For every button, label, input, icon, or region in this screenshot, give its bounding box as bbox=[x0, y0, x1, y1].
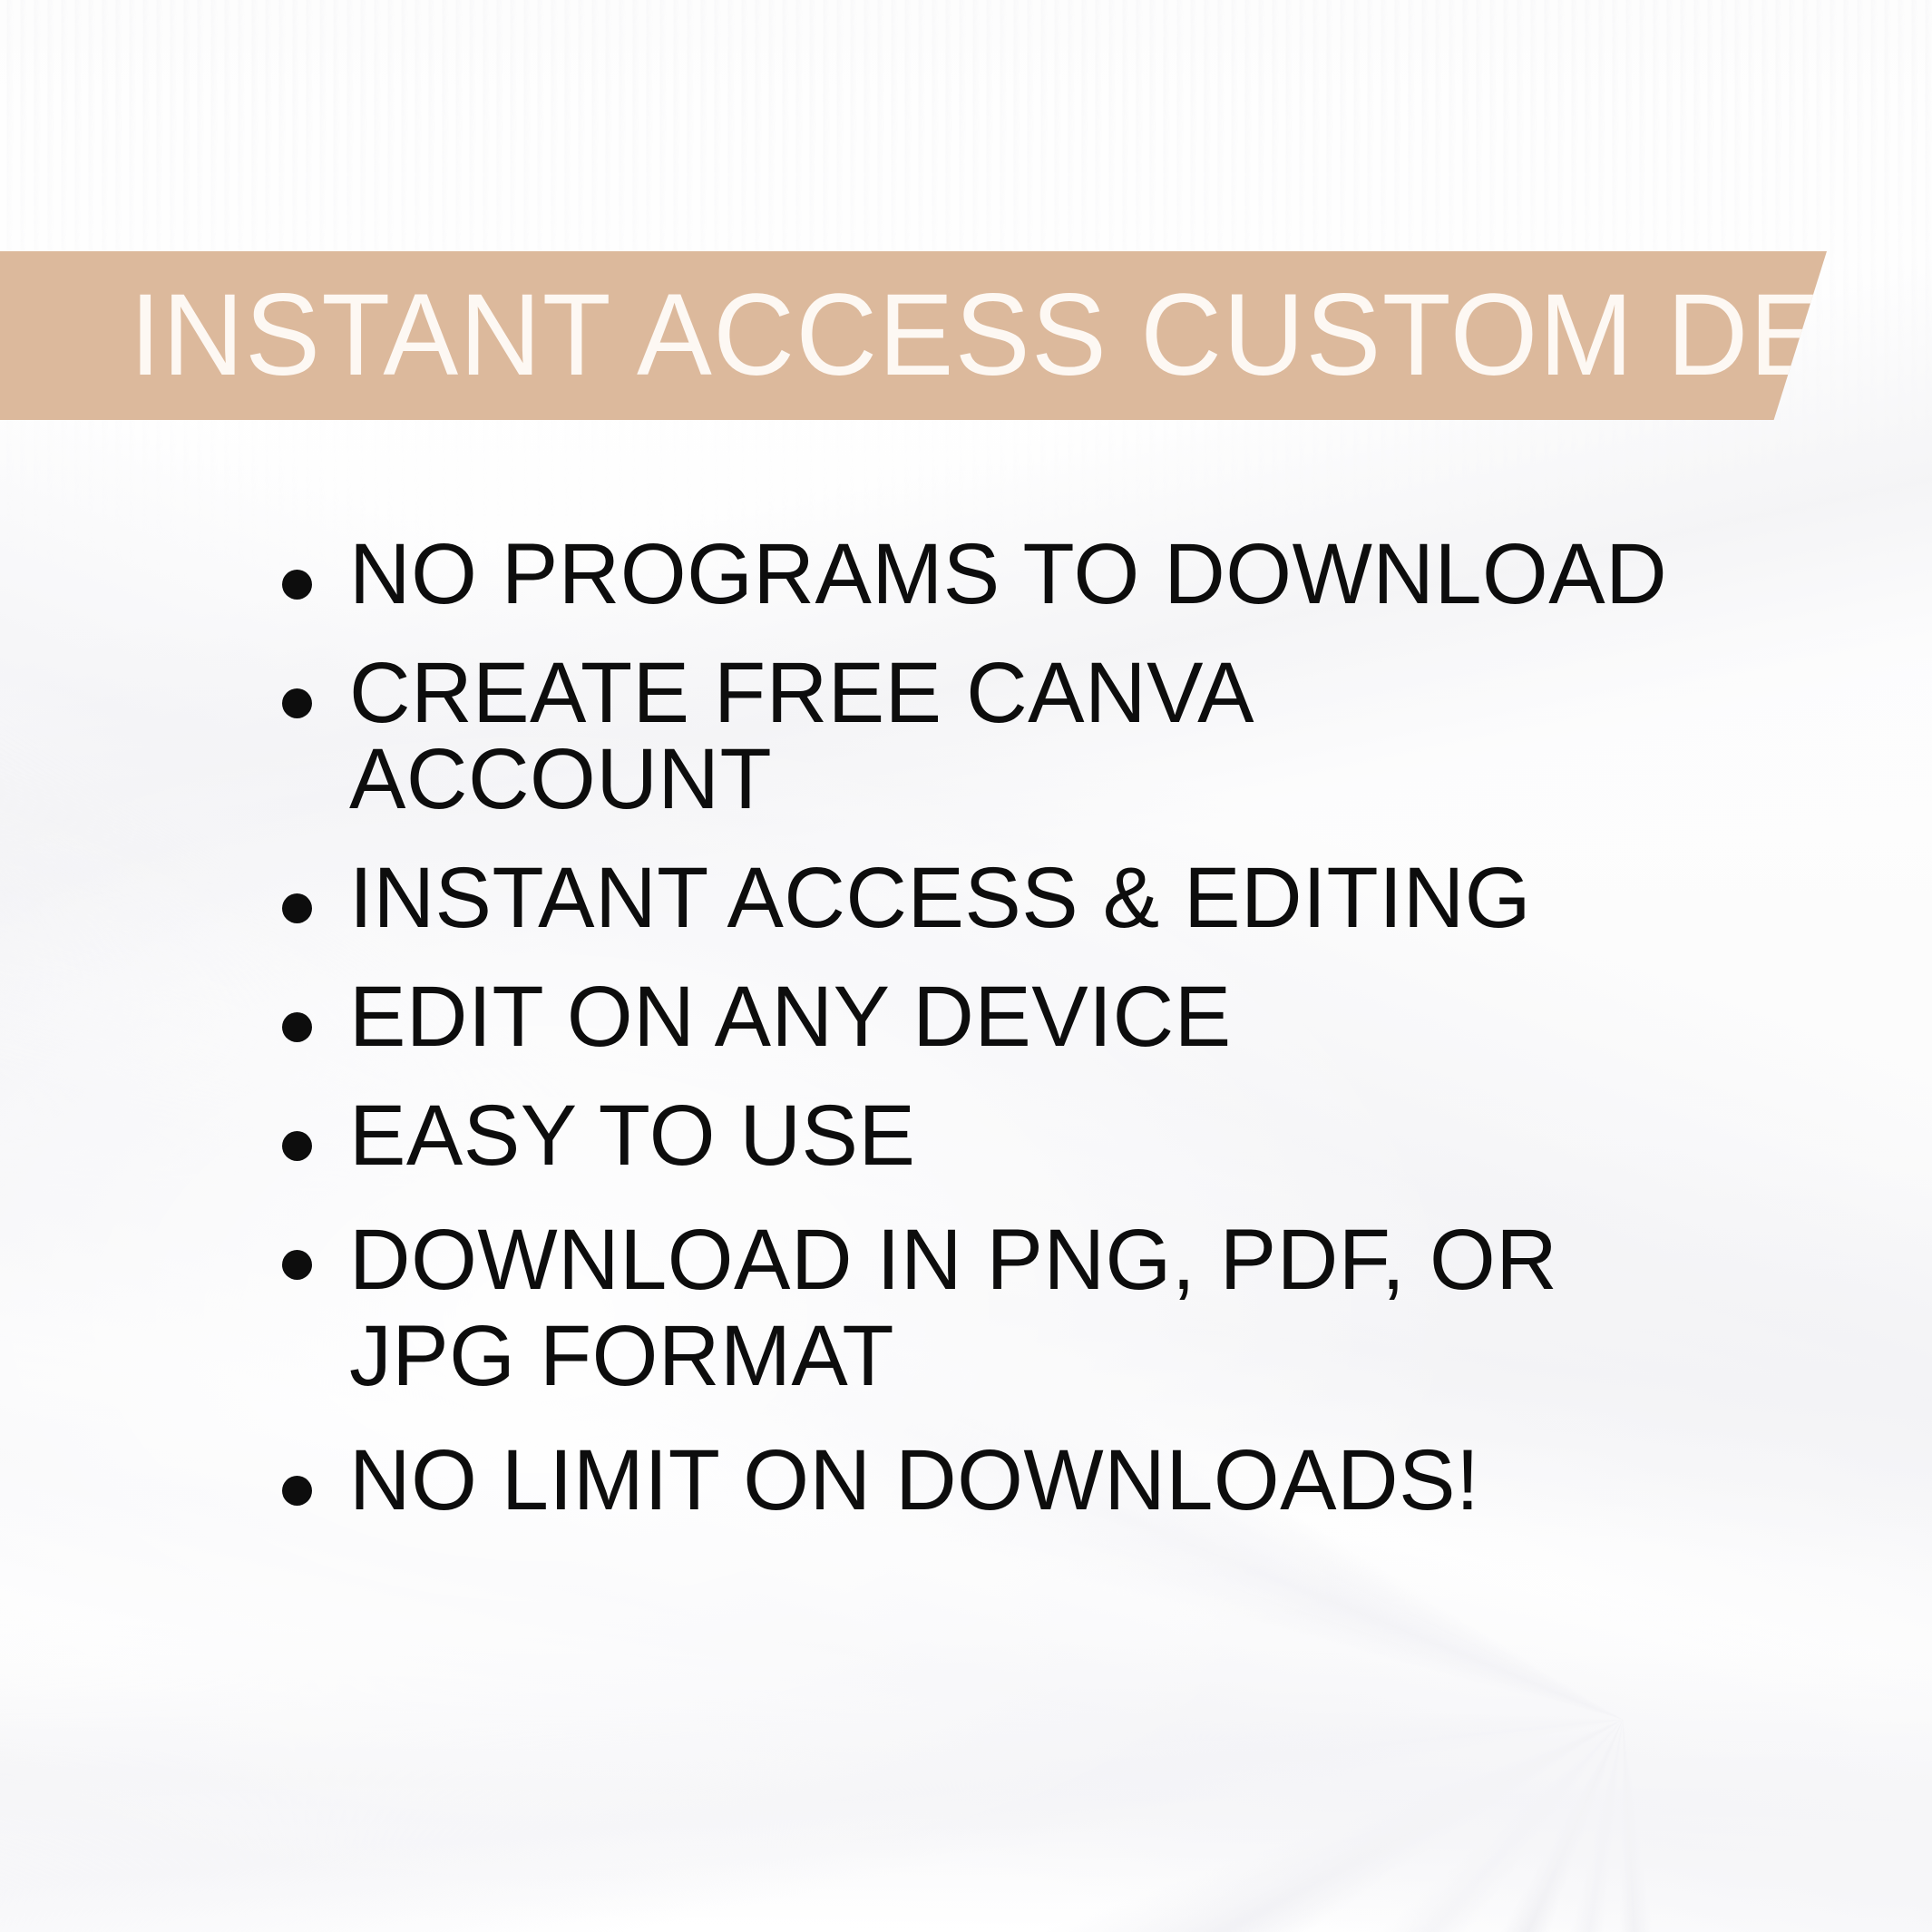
bullet-dot-icon bbox=[282, 893, 312, 923]
list-item-label: NO PROGRAMS TO DOWNLOAD bbox=[349, 532, 1672, 618]
list-item: EDIT ON ANY DEVICE bbox=[277, 974, 1692, 1060]
poster-canvas: INSTANT ACCESS CUSTOM DESIGNS NO PROGRAM… bbox=[0, 0, 1932, 1932]
bullet-dot-icon bbox=[282, 1250, 312, 1280]
list-item: CREATE FREE CANVA ACCOUNT bbox=[277, 650, 1692, 823]
bullet-dot-icon bbox=[282, 570, 312, 600]
bullet-dot-icon bbox=[282, 1131, 312, 1161]
list-item: NO LIMIT ON DOWNLOADS! bbox=[277, 1438, 1692, 1524]
list-item-label: DOWNLOAD IN PNG, PDF, OR JPG FORMAT bbox=[349, 1212, 1672, 1405]
bullet-dot-icon bbox=[282, 1012, 312, 1042]
page-title: INSTANT ACCESS CUSTOM DESIGNS bbox=[130, 278, 1932, 394]
bullet-dot-icon bbox=[282, 1476, 312, 1506]
bullet-dot-icon bbox=[282, 688, 312, 718]
list-item-label: EDIT ON ANY DEVICE bbox=[349, 974, 1672, 1060]
list-item: INSTANT ACCESS & EDITING bbox=[277, 855, 1692, 942]
list-item: NO PROGRAMS TO DOWNLOAD bbox=[277, 532, 1692, 618]
list-item-label: CREATE FREE CANVA ACCOUNT bbox=[349, 650, 1672, 823]
list-item: EASY TO USE bbox=[277, 1093, 1692, 1179]
list-item-label: EASY TO USE bbox=[349, 1093, 1672, 1179]
header-banner: INSTANT ACCESS CUSTOM DESIGNS bbox=[0, 251, 1827, 420]
list-item-label: NO LIMIT ON DOWNLOADS! bbox=[349, 1438, 1672, 1524]
feature-list: NO PROGRAMS TO DOWNLOAD CREATE FREE CANV… bbox=[277, 532, 1692, 1524]
list-item: DOWNLOAD IN PNG, PDF, OR JPG FORMAT bbox=[277, 1212, 1692, 1405]
list-item-label: INSTANT ACCESS & EDITING bbox=[349, 855, 1672, 942]
